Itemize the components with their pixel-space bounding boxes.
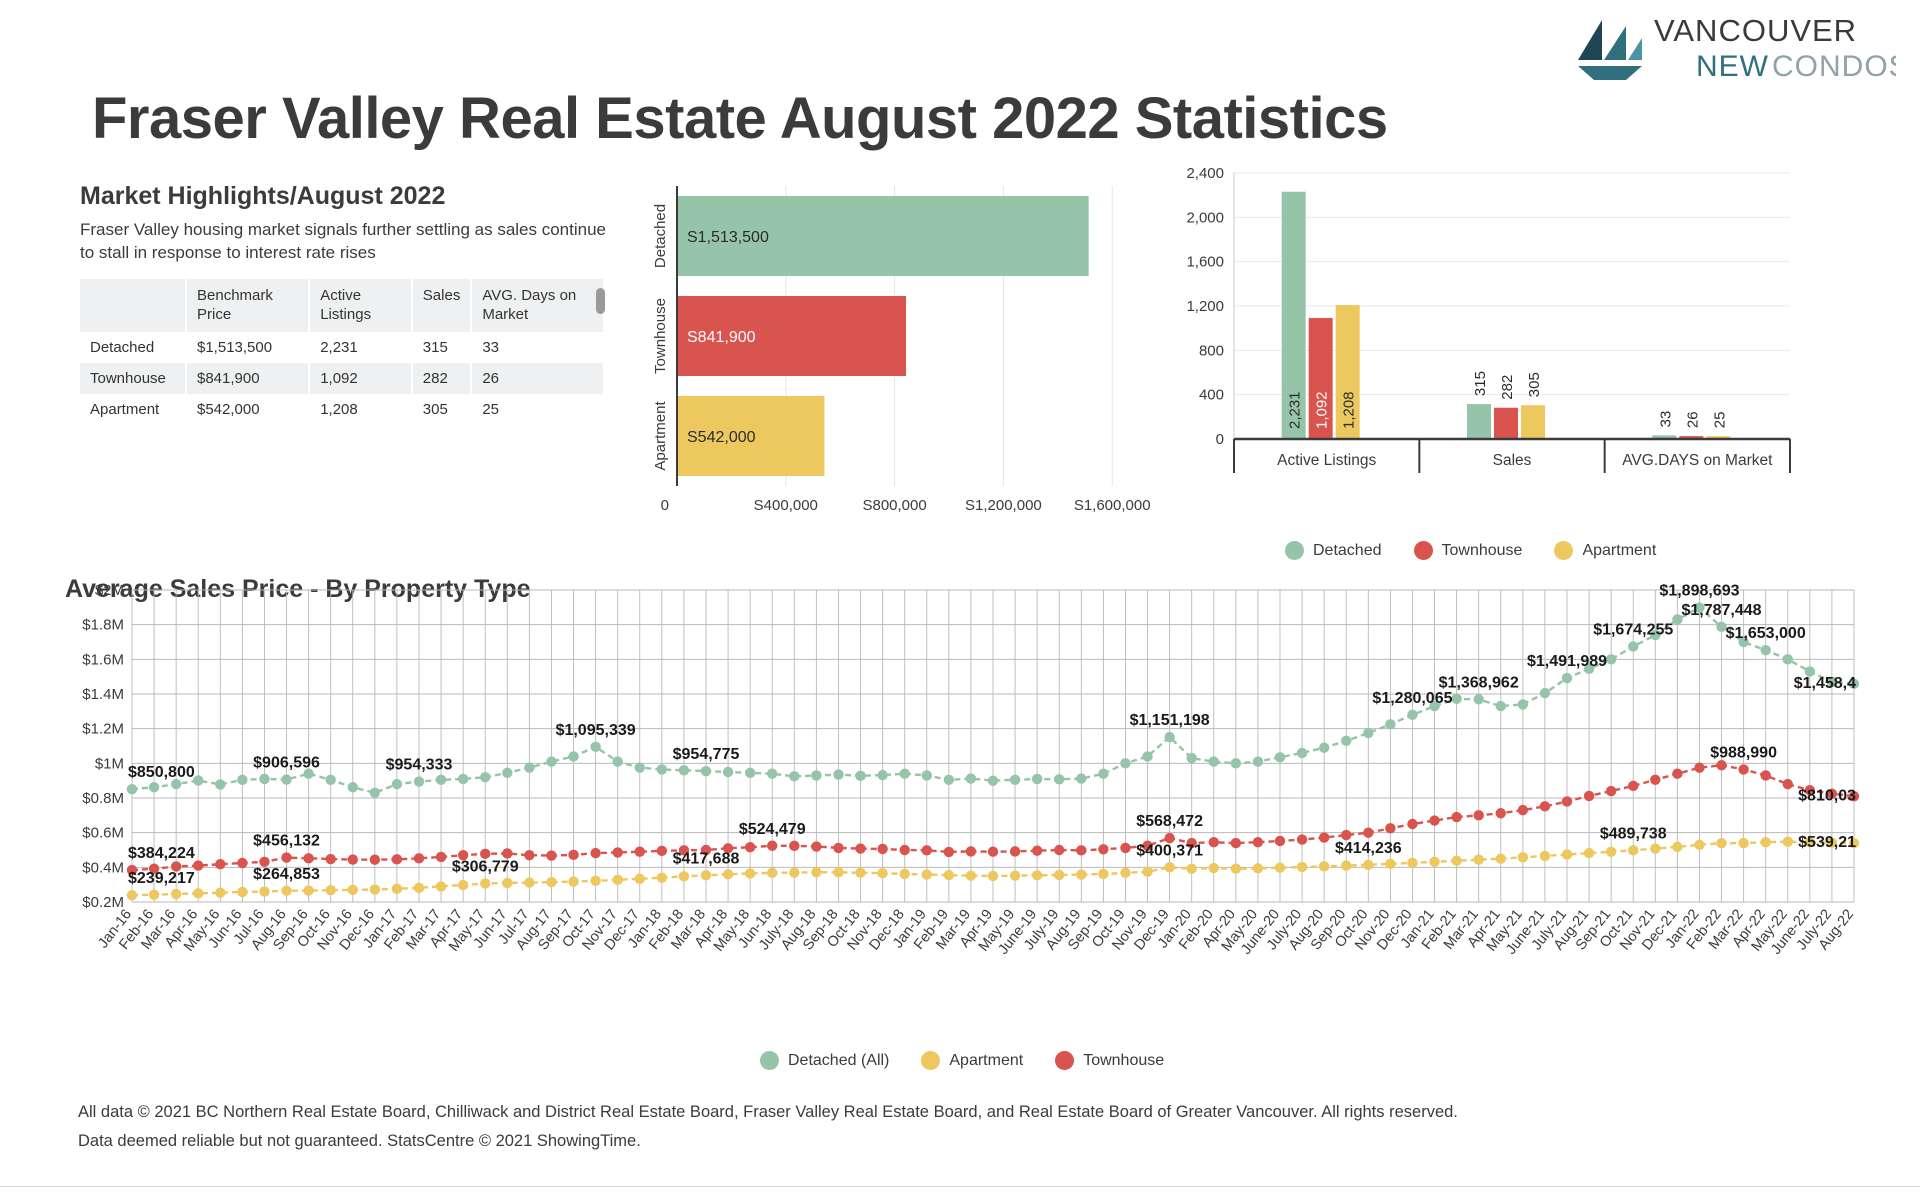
y-tick-label: $1.2M bbox=[82, 721, 124, 738]
cell-benchmark: $1,513,500 bbox=[186, 332, 309, 363]
data-point bbox=[745, 842, 755, 852]
data-point bbox=[1363, 860, 1373, 870]
data-annotation: $239,217 bbox=[128, 870, 195, 887]
table-header-row: Benchmark Price Active Listings Sales AV… bbox=[80, 279, 604, 333]
data-point bbox=[1407, 710, 1417, 720]
data-point bbox=[392, 884, 402, 894]
x-tick-label: S1,200,000 bbox=[965, 497, 1042, 514]
data-point bbox=[1098, 844, 1108, 854]
y-tick-label: 1,600 bbox=[1186, 254, 1224, 271]
data-point bbox=[1562, 796, 1572, 806]
data-point bbox=[370, 788, 380, 798]
page-title: Fraser Valley Real Estate August 2022 St… bbox=[92, 85, 1388, 152]
data-point bbox=[524, 762, 534, 772]
data-point bbox=[171, 889, 181, 899]
data-annotation: $1,151,198 bbox=[1130, 712, 1210, 729]
bar-category-label: Detached bbox=[652, 204, 669, 268]
y-tick-label: 400 bbox=[1199, 387, 1224, 404]
data-point bbox=[127, 890, 137, 900]
data-point bbox=[1540, 688, 1550, 698]
cell-sales: 282 bbox=[412, 363, 472, 394]
data-point bbox=[1473, 810, 1483, 820]
cell-type: Detached bbox=[80, 332, 186, 363]
footer-line-1: All data © 2021 BC Northern Real Estate … bbox=[78, 1098, 1458, 1127]
data-point bbox=[1473, 694, 1483, 704]
data-point bbox=[392, 779, 402, 789]
data-point bbox=[723, 767, 733, 777]
data-point bbox=[811, 867, 821, 877]
data-point bbox=[1429, 815, 1439, 825]
data-annotation: $954,775 bbox=[673, 746, 740, 763]
data-point bbox=[1120, 758, 1130, 768]
data-point bbox=[635, 847, 645, 857]
data-point bbox=[1672, 769, 1682, 779]
cell-benchmark: $841,900 bbox=[186, 363, 309, 394]
data-point bbox=[436, 881, 446, 891]
cell-type: Apartment bbox=[80, 394, 186, 425]
col-header-type bbox=[80, 279, 186, 333]
data-point bbox=[1319, 861, 1329, 871]
data-point bbox=[1783, 836, 1793, 846]
data-point bbox=[1738, 764, 1748, 774]
data-point bbox=[348, 885, 358, 895]
data-point bbox=[1540, 851, 1550, 861]
data-annotation: $568,472 bbox=[1136, 813, 1203, 830]
data-point bbox=[1628, 845, 1638, 855]
bar-data-label: S1,513,500 bbox=[687, 229, 769, 246]
data-point bbox=[590, 742, 600, 752]
column-townhouse-1 bbox=[1494, 408, 1518, 439]
table-row: Townhouse $841,900 1,092 282 26 bbox=[80, 363, 604, 394]
table-row: Detached $1,513,500 2,231 315 33 bbox=[80, 332, 604, 363]
data-point bbox=[1451, 694, 1461, 704]
data-point bbox=[568, 751, 578, 761]
data-point bbox=[1760, 770, 1770, 780]
data-point bbox=[237, 858, 247, 868]
data-point bbox=[348, 782, 358, 792]
data-point bbox=[1584, 791, 1594, 801]
data-point bbox=[1451, 812, 1461, 822]
data-point bbox=[811, 770, 821, 780]
cell-benchmark: $542,000 bbox=[186, 394, 309, 425]
data-point bbox=[657, 873, 667, 883]
data-annotation: $1,458,4 bbox=[1794, 675, 1856, 692]
x-category-label: Active Listings bbox=[1277, 452, 1376, 469]
data-point bbox=[1319, 832, 1329, 842]
legend-item-apartment[interactable]: Apartment bbox=[1554, 541, 1656, 560]
cell-days: 33 bbox=[471, 332, 604, 363]
data-point bbox=[1694, 840, 1704, 850]
legend-swatch-detached bbox=[1285, 541, 1304, 560]
market-highlights-panel: Market Highlights/August 2022 Fraser Val… bbox=[80, 182, 625, 425]
data-point bbox=[1429, 857, 1439, 867]
data-point bbox=[1297, 862, 1307, 872]
legend-item-apartment[interactable]: Apartment bbox=[921, 1051, 1023, 1070]
y-tick-label: $1.4M bbox=[82, 686, 124, 703]
data-point bbox=[1363, 728, 1373, 738]
legend-item-detached[interactable]: Detached bbox=[1285, 541, 1382, 560]
y-tick-label: $0.8M bbox=[82, 790, 124, 807]
data-point bbox=[458, 774, 468, 784]
data-point bbox=[1341, 860, 1351, 870]
bar-category-label: Townhouse bbox=[652, 298, 669, 374]
data-point bbox=[325, 854, 335, 864]
data-point bbox=[1253, 756, 1263, 766]
data-point bbox=[1120, 843, 1130, 853]
data-annotation: $954,333 bbox=[386, 757, 453, 774]
bottom-divider bbox=[0, 1186, 1920, 1187]
data-point bbox=[1186, 864, 1196, 874]
data-point bbox=[944, 870, 954, 880]
data-point bbox=[1738, 838, 1748, 848]
data-point bbox=[281, 886, 291, 896]
data-point bbox=[899, 769, 909, 779]
data-point bbox=[1385, 823, 1395, 833]
data-annotation: $1,095,339 bbox=[556, 722, 636, 739]
table-row: Apartment $542,000 1,208 305 25 bbox=[80, 394, 604, 425]
data-point bbox=[480, 878, 490, 888]
data-point bbox=[546, 877, 556, 887]
data-annotation: $456,132 bbox=[253, 833, 320, 850]
data-point bbox=[414, 883, 424, 893]
data-annotation: $524,479 bbox=[739, 821, 806, 838]
data-point bbox=[480, 849, 490, 859]
data-annotation: $906,596 bbox=[253, 755, 320, 772]
column-data-label: 2,231 bbox=[1287, 391, 1304, 429]
data-point bbox=[524, 850, 534, 860]
data-point bbox=[1231, 758, 1241, 768]
data-point bbox=[436, 852, 446, 862]
data-point bbox=[1032, 870, 1042, 880]
data-point bbox=[1341, 736, 1351, 746]
svg-text:NEW: NEW bbox=[1696, 50, 1769, 83]
cell-type: Townhouse bbox=[80, 363, 186, 394]
data-point bbox=[1562, 673, 1572, 683]
data-annotation: $384,224 bbox=[128, 845, 195, 862]
data-point bbox=[1010, 870, 1020, 880]
data-point bbox=[1407, 819, 1417, 829]
x-category-label: AVG.DAYS on Market bbox=[1622, 452, 1773, 469]
data-point bbox=[1231, 864, 1241, 874]
legend-item-townhouse[interactable]: Townhouse bbox=[1055, 1051, 1164, 1070]
legend-label-apartment: Apartment bbox=[949, 1052, 1023, 1070]
legend-label-detached: Detached bbox=[1313, 542, 1382, 560]
data-point bbox=[1142, 866, 1152, 876]
legend-swatch-apartment bbox=[1554, 541, 1573, 560]
y-tick-label: $0.4M bbox=[82, 859, 124, 876]
data-annotation: $414,236 bbox=[1335, 840, 1402, 857]
cell-active: 2,231 bbox=[309, 332, 412, 363]
legend-label-detached-all: Detached (All) bbox=[788, 1052, 889, 1070]
data-point bbox=[1760, 645, 1770, 655]
col-header-avg-days-on-market: AVG. Days on Market bbox=[471, 279, 604, 333]
col-header-active-listings: Active Listings bbox=[309, 279, 412, 333]
legend-label-townhouse: Townhouse bbox=[1442, 542, 1523, 560]
x-tick-label: S1,600,000 bbox=[1074, 497, 1151, 514]
data-point bbox=[546, 756, 556, 766]
data-point bbox=[1783, 654, 1793, 664]
data-point bbox=[767, 769, 777, 779]
data-point bbox=[635, 874, 645, 884]
data-point bbox=[833, 843, 843, 853]
data-point bbox=[502, 878, 512, 888]
data-point bbox=[237, 775, 247, 785]
data-point bbox=[789, 771, 799, 781]
data-point bbox=[966, 773, 976, 783]
data-point bbox=[1584, 848, 1594, 858]
data-point bbox=[1032, 845, 1042, 855]
data-point bbox=[988, 871, 998, 881]
data-point bbox=[1120, 868, 1130, 878]
column-data-label: 282 bbox=[1499, 375, 1516, 400]
data-point bbox=[745, 868, 755, 878]
data-point bbox=[1231, 838, 1241, 848]
column-data-label: 305 bbox=[1526, 372, 1543, 397]
data-point bbox=[1628, 781, 1638, 791]
data-point bbox=[679, 871, 689, 881]
data-point bbox=[590, 848, 600, 858]
data-point bbox=[612, 756, 622, 766]
data-point bbox=[944, 847, 954, 857]
data-point bbox=[1076, 773, 1086, 783]
data-point bbox=[1518, 852, 1528, 862]
data-point bbox=[1275, 862, 1285, 872]
data-point bbox=[922, 770, 932, 780]
data-point bbox=[657, 846, 667, 856]
data-point bbox=[127, 784, 137, 794]
benchmark-price-bar-chart: S1,513,500DetachedS841,900TownhouseS542,… bbox=[635, 182, 1165, 532]
bar-category-label: Apartment bbox=[652, 401, 669, 471]
data-point bbox=[546, 850, 556, 860]
data-point bbox=[1407, 858, 1417, 868]
y-tick-label: $0.2M bbox=[82, 894, 124, 911]
legend-item-townhouse[interactable]: Townhouse bbox=[1414, 541, 1523, 560]
data-point bbox=[855, 868, 865, 878]
legend-swatch-apartment bbox=[921, 1051, 940, 1070]
data-point bbox=[568, 850, 578, 860]
x-tick-label: S800,000 bbox=[862, 497, 926, 514]
data-point bbox=[767, 868, 777, 878]
x-tick-label: 0 bbox=[661, 497, 669, 514]
data-point bbox=[1054, 870, 1064, 880]
data-point bbox=[1606, 847, 1616, 857]
average-sales-price-line-chart: $0.2M$0.4M$0.6M$0.8M$1M$1.2M$1.4M$1.6M$1… bbox=[62, 580, 1862, 1020]
data-point bbox=[1363, 827, 1373, 837]
infographic-page: VANCOUVER NEW CONDOS Fraser Valley Real … bbox=[0, 0, 1920, 1202]
data-annotation: $264,853 bbox=[253, 866, 320, 883]
data-point bbox=[877, 868, 887, 878]
data-point bbox=[568, 876, 578, 886]
column-chart-legend: Detached Townhouse Apartment bbox=[1285, 541, 1678, 560]
data-point bbox=[1297, 748, 1307, 758]
highlights-subheading: Fraser Valley housing market signals fur… bbox=[80, 219, 620, 265]
column-data-label: 25 bbox=[1711, 412, 1728, 429]
y-tick-label: 1,200 bbox=[1186, 298, 1224, 315]
data-point bbox=[767, 841, 777, 851]
data-point bbox=[215, 887, 225, 897]
data-point bbox=[1650, 843, 1660, 853]
data-annotation: $306,779 bbox=[452, 858, 519, 875]
data-point bbox=[392, 854, 402, 864]
y-tick-label: $2M bbox=[95, 582, 124, 599]
data-point bbox=[1186, 753, 1196, 763]
bar-data-label: S542,000 bbox=[687, 429, 756, 446]
data-annotation: $417,688 bbox=[673, 850, 740, 867]
data-point bbox=[1275, 836, 1285, 846]
data-annotation: $1,787,448 bbox=[1681, 602, 1761, 619]
data-annotation: $489,738 bbox=[1600, 825, 1667, 842]
y-tick-label: 800 bbox=[1199, 342, 1224, 359]
legend-swatch-detached-all bbox=[760, 1051, 779, 1070]
listings-sales-dom-column-chart: 04008001,2001,6002,0002,4002,2311,0921,2… bbox=[1180, 155, 1800, 505]
data-point bbox=[1451, 856, 1461, 866]
data-point bbox=[480, 772, 490, 782]
data-point bbox=[1275, 752, 1285, 762]
data-point bbox=[1164, 862, 1174, 872]
data-point bbox=[414, 776, 424, 786]
data-annotation: $988,990 bbox=[1710, 744, 1777, 761]
data-annotation: $1,674,255 bbox=[1593, 621, 1673, 638]
data-point bbox=[811, 841, 821, 851]
data-annotation: $1,491,989 bbox=[1527, 653, 1607, 670]
svg-text:VANCOUVER: VANCOUVER bbox=[1654, 13, 1857, 48]
data-point bbox=[590, 876, 600, 886]
data-point bbox=[1473, 855, 1483, 865]
data-point bbox=[1518, 805, 1528, 815]
x-category-label: Sales bbox=[1493, 452, 1532, 469]
y-tick-label: 0 bbox=[1216, 431, 1224, 448]
data-point bbox=[458, 880, 468, 890]
data-point bbox=[877, 770, 887, 780]
data-point bbox=[1253, 863, 1263, 873]
col-header-sales: Sales bbox=[412, 279, 472, 333]
data-point bbox=[833, 769, 843, 779]
data-point bbox=[303, 853, 313, 863]
data-point bbox=[149, 782, 159, 792]
legend-item-detached-all[interactable]: Detached (All) bbox=[760, 1051, 889, 1070]
data-point bbox=[899, 845, 909, 855]
bar-data-label: S841,900 bbox=[687, 329, 756, 346]
data-point bbox=[899, 869, 909, 879]
legend-swatch-townhouse bbox=[1414, 541, 1433, 560]
data-point bbox=[303, 885, 313, 895]
data-point bbox=[1760, 837, 1770, 847]
data-point bbox=[325, 885, 335, 895]
data-point bbox=[215, 859, 225, 869]
data-point bbox=[1672, 842, 1682, 852]
data-point bbox=[1716, 838, 1726, 848]
data-point bbox=[348, 854, 358, 864]
y-tick-label: $1.6M bbox=[82, 651, 124, 668]
data-point bbox=[1010, 846, 1020, 856]
data-point bbox=[1540, 801, 1550, 811]
data-point bbox=[855, 843, 865, 853]
data-point bbox=[966, 870, 976, 880]
column-detached-1 bbox=[1467, 404, 1491, 439]
data-point bbox=[1010, 775, 1020, 785]
data-point bbox=[1076, 869, 1086, 879]
data-point bbox=[281, 774, 291, 784]
data-point bbox=[414, 853, 424, 863]
data-point bbox=[657, 764, 667, 774]
y-tick-label: 2,400 bbox=[1186, 165, 1224, 182]
legend-swatch-townhouse bbox=[1055, 1051, 1074, 1070]
data-annotation: $1,368,962 bbox=[1439, 674, 1519, 691]
data-point bbox=[259, 774, 269, 784]
data-point bbox=[1650, 775, 1660, 785]
data-point bbox=[612, 875, 622, 885]
data-point bbox=[1209, 756, 1219, 766]
line-chart-legend: Detached (All) Apartment Townhouse bbox=[760, 1051, 1186, 1070]
data-annotation: $400,371 bbox=[1136, 842, 1203, 859]
data-point bbox=[1496, 853, 1506, 863]
legend-label-apartment: Apartment bbox=[1582, 542, 1656, 560]
data-point bbox=[281, 852, 291, 862]
data-point bbox=[679, 765, 689, 775]
cell-days: 25 bbox=[471, 394, 604, 425]
data-point bbox=[149, 890, 159, 900]
data-point bbox=[988, 775, 998, 785]
data-point bbox=[877, 844, 887, 854]
data-annotation: $1,280,065 bbox=[1372, 690, 1452, 707]
column-data-label: 1,092 bbox=[1314, 391, 1331, 429]
data-point bbox=[701, 870, 711, 880]
data-annotation: $539,21 bbox=[1798, 834, 1856, 851]
data-point bbox=[833, 867, 843, 877]
data-point bbox=[988, 847, 998, 857]
data-point bbox=[922, 869, 932, 879]
cell-active: 1,208 bbox=[309, 394, 412, 425]
data-point bbox=[701, 766, 711, 776]
data-point bbox=[1209, 863, 1219, 873]
data-point bbox=[922, 845, 932, 855]
data-point bbox=[1716, 760, 1726, 770]
data-point bbox=[1076, 845, 1086, 855]
column-data-label: 26 bbox=[1684, 411, 1701, 428]
data-point bbox=[237, 887, 247, 897]
data-point bbox=[436, 775, 446, 785]
data-point bbox=[1253, 837, 1263, 847]
data-point bbox=[1606, 654, 1616, 664]
column-data-label: 1,208 bbox=[1341, 391, 1358, 429]
data-point bbox=[789, 867, 799, 877]
data-annotation: $1,898,693 bbox=[1659, 583, 1739, 600]
data-point bbox=[944, 775, 954, 785]
data-point bbox=[1385, 719, 1395, 729]
cell-days: 26 bbox=[471, 363, 604, 394]
data-point bbox=[1164, 732, 1174, 742]
scrollbar-thumb[interactable] bbox=[596, 288, 605, 314]
highlights-heading: Market Highlights/August 2022 bbox=[80, 182, 625, 211]
data-point bbox=[1319, 743, 1329, 753]
data-point bbox=[1297, 834, 1307, 844]
data-point bbox=[215, 779, 225, 789]
column-data-label: 315 bbox=[1472, 371, 1489, 396]
data-point bbox=[745, 768, 755, 778]
data-point bbox=[635, 762, 645, 772]
y-tick-label: $1.8M bbox=[82, 617, 124, 634]
data-point bbox=[1783, 779, 1793, 789]
data-point bbox=[370, 855, 380, 865]
data-annotation: $1,653,000 bbox=[1726, 625, 1806, 642]
data-point bbox=[1032, 774, 1042, 784]
data-point bbox=[612, 847, 622, 857]
data-point bbox=[723, 869, 733, 879]
market-highlights-table: Benchmark Price Active Listings Sales AV… bbox=[80, 279, 605, 426]
footer-disclaimer: All data © 2021 BC Northern Real Estate … bbox=[78, 1098, 1458, 1156]
vancouver-new-condos-logo: VANCOUVER NEW CONDOS bbox=[1576, 8, 1896, 88]
data-point bbox=[1098, 869, 1108, 879]
